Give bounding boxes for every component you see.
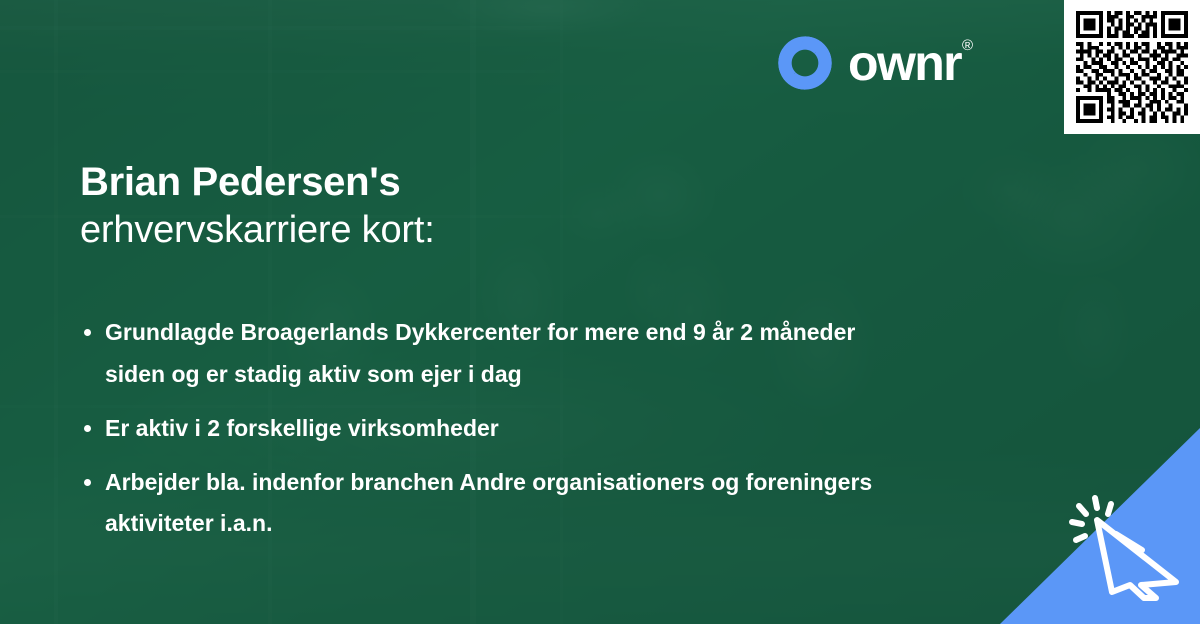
profile-card: ownr® Brian Pedersen's erhvervskarriere … [0, 0, 1200, 624]
ownr-wordmark: ownr® [848, 38, 972, 88]
ownr-circle-swirl-icon [776, 34, 834, 92]
qr-code-panel[interactable] [1064, 0, 1200, 134]
list-item-label: Grundlagde Broagerlands Dykkercenter for… [105, 319, 855, 387]
page-title: Brian Pedersen's erhvervskarriere kort: [80, 158, 800, 255]
brand-name: ownr [848, 35, 961, 91]
list-item-label: Arbejder bla. indenfor branchen Andre or… [105, 469, 872, 537]
list-item-label: Er aktiv i 2 forskellige virksomheder [105, 415, 499, 441]
list-item: Grundlagde Broagerlands Dykkercenter for… [80, 312, 920, 396]
click-cursor-icon [1064, 490, 1186, 602]
list-item: Arbejder bla. indenfor branchen Andre or… [80, 462, 920, 546]
bullet-dot-icon [84, 329, 91, 336]
list-item: Er aktiv i 2 forskellige virksomheder [80, 408, 920, 450]
title-line-1: Brian Pedersen's [80, 158, 800, 207]
bullet-dot-icon [84, 425, 91, 432]
bullet-dot-icon [84, 479, 91, 486]
title-line-2: erhvervskarriere kort: [80, 207, 800, 255]
trademark-symbol: ® [962, 37, 973, 54]
career-facts-list: Grundlagde Broagerlands Dykkercenter for… [80, 312, 920, 545]
qr-code-icon [1076, 11, 1188, 123]
ownr-logo[interactable]: ownr® [776, 34, 972, 92]
